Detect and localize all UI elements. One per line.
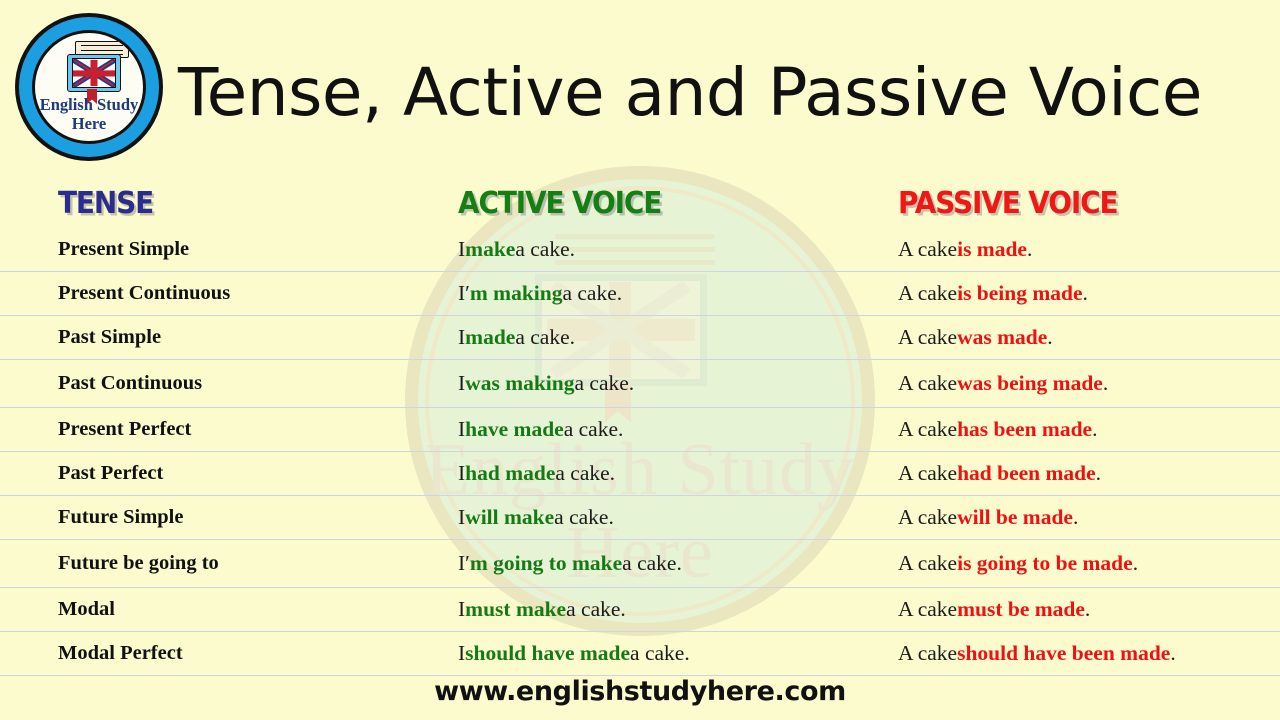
active-verb: must make	[465, 597, 566, 622]
passive-suffix: .	[1047, 325, 1052, 350]
active-suffix: a cake.	[555, 461, 615, 486]
active-prefix: I	[458, 325, 465, 350]
active-prefix: I	[458, 371, 465, 396]
passive-voice-cell: A cake will be made.	[898, 496, 1078, 539]
uk-flag-icon	[73, 59, 115, 87]
passive-suffix: .	[1170, 641, 1175, 666]
passive-prefix: A cake	[898, 641, 957, 666]
active-suffix: a cake.	[564, 417, 624, 442]
passive-suffix: .	[1133, 551, 1138, 576]
logo-face: English Study Here	[35, 33, 143, 141]
tense-name-cell: Past Continuous	[58, 360, 202, 407]
tense-name-cell: Present Continuous	[58, 272, 230, 315]
passive-verb: is being made	[957, 281, 1082, 306]
tense-name-cell: Modal	[58, 588, 115, 631]
active-prefix: I	[458, 641, 465, 666]
active-suffix: a cake.	[630, 641, 690, 666]
passive-verb: was made	[957, 325, 1047, 350]
active-verb: have made	[465, 417, 564, 442]
passive-verb: is made	[957, 237, 1027, 262]
tense-name-cell: Past Simple	[58, 316, 161, 359]
passive-suffix: .	[1073, 505, 1078, 530]
table-row: Present SimpleI make a cake.A cake is ma…	[0, 228, 1280, 272]
active-suffix: a cake.	[562, 281, 622, 306]
column-header-passive-voice: PASSIVE VOICE	[898, 186, 1117, 221]
infographic-page: English Study Here	[0, 0, 1280, 720]
passive-prefix: A cake	[898, 461, 957, 486]
active-suffix: a cake.	[566, 597, 626, 622]
passive-suffix: .	[1103, 371, 1108, 396]
active-verb: should have made	[465, 641, 630, 666]
passive-verb: should have been made	[957, 641, 1170, 666]
active-prefix: I′	[458, 281, 470, 306]
active-verb: was making	[465, 371, 574, 396]
table-row: Modal PerfectI should have made a cake.A…	[0, 632, 1280, 676]
book-icon	[65, 41, 127, 97]
passive-prefix: A cake	[898, 505, 957, 530]
page-title: Tense, Active and Passive Voice	[178, 54, 1202, 131]
active-voice-cell: I must make a cake.	[458, 588, 626, 631]
active-voice-cell: I was making a cake.	[458, 360, 634, 407]
passive-prefix: A cake	[898, 417, 957, 442]
active-voice-cell: I will make a cake.	[458, 496, 614, 539]
tense-name-cell: Future Simple	[58, 496, 183, 539]
english-study-here-logo[interactable]: English Study Here	[15, 13, 163, 161]
passive-suffix: .	[1027, 237, 1032, 262]
active-verb: m making	[470, 281, 563, 306]
table-row: Past SimpleI made a cake.A cake was made…	[0, 316, 1280, 360]
column-header-tense: TENSE	[58, 186, 153, 221]
active-suffix: a cake.	[515, 325, 575, 350]
active-suffix: a cake.	[622, 551, 682, 576]
passive-verb: was being made	[957, 371, 1103, 396]
table-row: ModalI must make a cake.A cake must be m…	[0, 588, 1280, 632]
active-prefix: I′	[458, 551, 470, 576]
passive-prefix: A cake	[898, 597, 957, 622]
tense-voice-table: Present SimpleI make a cake.A cake is ma…	[0, 228, 1280, 676]
passive-voice-cell: A cake should have been made.	[898, 632, 1176, 675]
table-row: Present ContinuousI′m making a cake.A ca…	[0, 272, 1280, 316]
passive-verb: has been made	[957, 417, 1092, 442]
passive-prefix: A cake	[898, 371, 957, 396]
tense-name-cell: Present Simple	[58, 228, 189, 271]
active-voice-cell: I have made a cake.	[458, 408, 623, 451]
passive-suffix: .	[1096, 461, 1101, 486]
table-row: Future SimpleI will make a cake.A cake w…	[0, 496, 1280, 540]
passive-suffix: .	[1085, 597, 1090, 622]
active-prefix: I	[458, 237, 465, 262]
passive-verb: will be made	[957, 505, 1073, 530]
passive-voice-cell: A cake must be made.	[898, 588, 1090, 631]
active-suffix: a cake.	[575, 371, 635, 396]
book-inner-panel	[72, 58, 116, 88]
active-verb: m going to make	[470, 551, 622, 576]
logo-text-line2: Here	[35, 114, 143, 134]
passive-suffix: .	[1092, 417, 1097, 442]
active-voice-cell: I′m going to make a cake.	[458, 540, 682, 587]
column-header-active-voice: ACTIVE VOICE	[458, 186, 661, 221]
passive-prefix: A cake	[898, 237, 957, 262]
active-suffix: a cake.	[554, 505, 614, 530]
table-row: Present PerfectI have made a cake.A cake…	[0, 408, 1280, 452]
active-voice-cell: I make a cake.	[458, 228, 575, 271]
passive-voice-cell: A cake is being made.	[898, 272, 1088, 315]
active-verb: will make	[465, 505, 554, 530]
passive-verb: had been made	[957, 461, 1096, 486]
tense-name-cell: Present Perfect	[58, 408, 191, 451]
logo-text-line1: English Study	[35, 95, 143, 115]
tense-name-cell: Past Perfect	[58, 452, 163, 495]
active-voice-cell: I′m making a cake.	[458, 272, 622, 315]
passive-verb: is going to be made	[957, 551, 1133, 576]
passive-voice-cell: A cake was made.	[898, 316, 1053, 359]
passive-suffix: .	[1083, 281, 1088, 306]
active-verb: make	[465, 237, 515, 262]
table-row: Past PerfectI had made a cake.A cake had…	[0, 452, 1280, 496]
active-prefix: I	[458, 597, 465, 622]
passive-voice-cell: A cake was being made.	[898, 360, 1108, 407]
table-row: Future be going toI′m going to make a ca…	[0, 540, 1280, 588]
tense-name-cell: Modal Perfect	[58, 632, 183, 675]
book-cover-icon	[67, 54, 121, 92]
active-prefix: I	[458, 505, 465, 530]
passive-prefix: A cake	[898, 325, 957, 350]
passive-voice-cell: A cake is going to be made.	[898, 540, 1138, 587]
active-verb: made	[465, 325, 515, 350]
active-voice-cell: I should have made a cake.	[458, 632, 690, 675]
active-prefix: I	[458, 461, 465, 486]
passive-voice-cell: A cake had been made.	[898, 452, 1101, 495]
active-prefix: I	[458, 417, 465, 442]
active-voice-cell: I made a cake.	[458, 316, 575, 359]
passive-prefix: A cake	[898, 551, 957, 576]
active-suffix: a cake.	[515, 237, 575, 262]
active-verb: had made	[465, 461, 555, 486]
footer-website-url: www.englishstudyhere.com	[0, 676, 1280, 707]
passive-voice-cell: A cake has been made.	[898, 408, 1097, 451]
table-row: Past ContinuousI was making a cake.A cak…	[0, 360, 1280, 408]
active-voice-cell: I had made a cake.	[458, 452, 615, 495]
tense-name-cell: Future be going to	[58, 540, 219, 587]
passive-prefix: A cake	[898, 281, 957, 306]
passive-verb: must be made	[957, 597, 1085, 622]
passive-voice-cell: A cake is made.	[898, 228, 1032, 271]
